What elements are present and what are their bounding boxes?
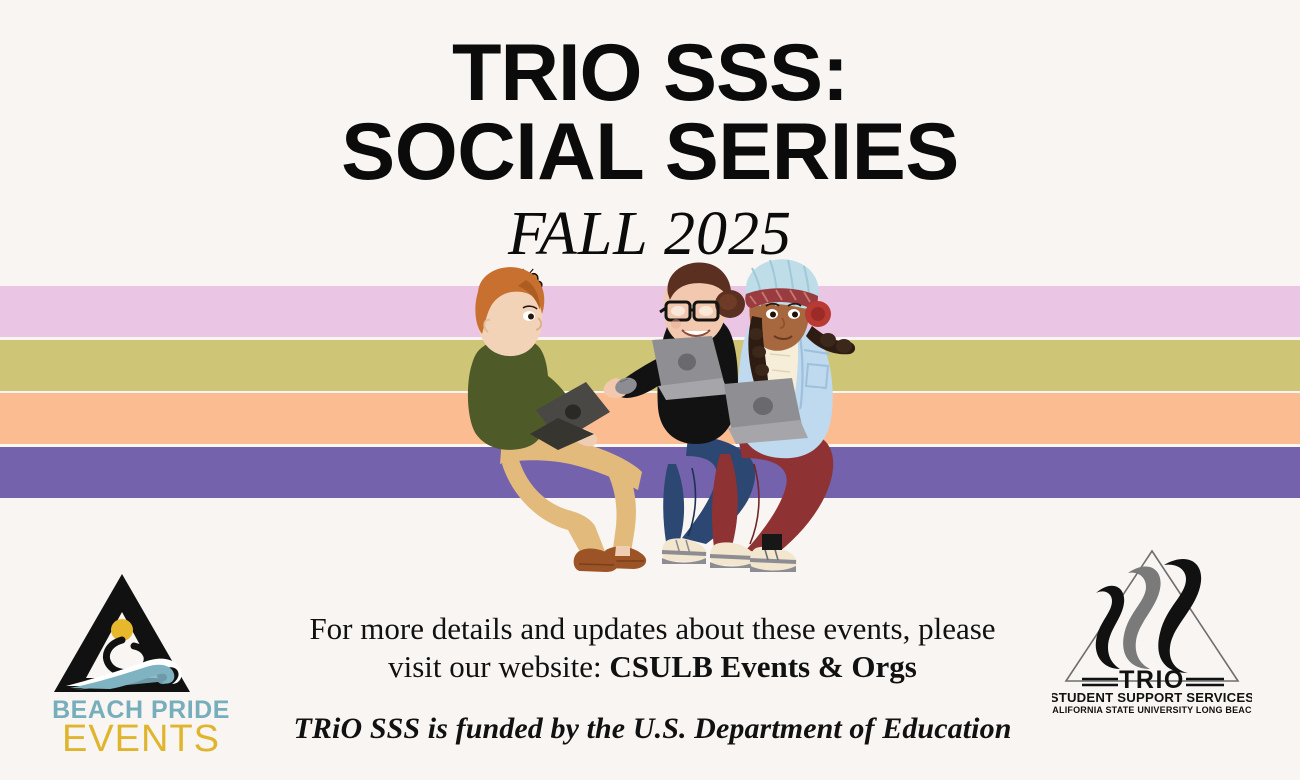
poster-canvas: TRIO SSS: SOCIAL SERIES FALL 2025 xyxy=(0,0,1300,780)
beach-pride-events-logo: BEACH PRIDE EVENTS xyxy=(48,566,234,758)
title-line-2: SOCIAL SERIES xyxy=(0,113,1300,192)
title-line-1: TRIO SSS: xyxy=(0,34,1300,113)
trio-line-1: STUDENT SUPPORT SERVICES xyxy=(1052,690,1252,705)
csulb-events-orgs-link[interactable]: CSULB Events & Orgs xyxy=(609,649,916,684)
footer-line-2-prefix: visit our website: xyxy=(388,649,609,684)
funding-note: TRiO SSS is funded by the U.S. Departmen… xyxy=(225,712,1080,746)
student-left xyxy=(468,267,646,572)
trio-line-2: CALIFORNIA STATE UNIVERSITY LONG BEACH xyxy=(1052,705,1252,715)
trio-student-support-services-logo: TRIO STUDENT SUPPORT SERVICES CALIFORNIA… xyxy=(1052,545,1252,715)
students-illustration xyxy=(430,258,880,578)
bp-line-2: EVENTS xyxy=(62,718,220,758)
footer-line-1: For more details and updates about these… xyxy=(225,610,1080,648)
footer-text-block: For more details and updates about these… xyxy=(225,610,1080,746)
footer-line-2: visit our website: CSULB Events & Orgs xyxy=(225,648,1080,686)
page-title: TRIO SSS: SOCIAL SERIES FALL 2025 xyxy=(0,34,1300,267)
